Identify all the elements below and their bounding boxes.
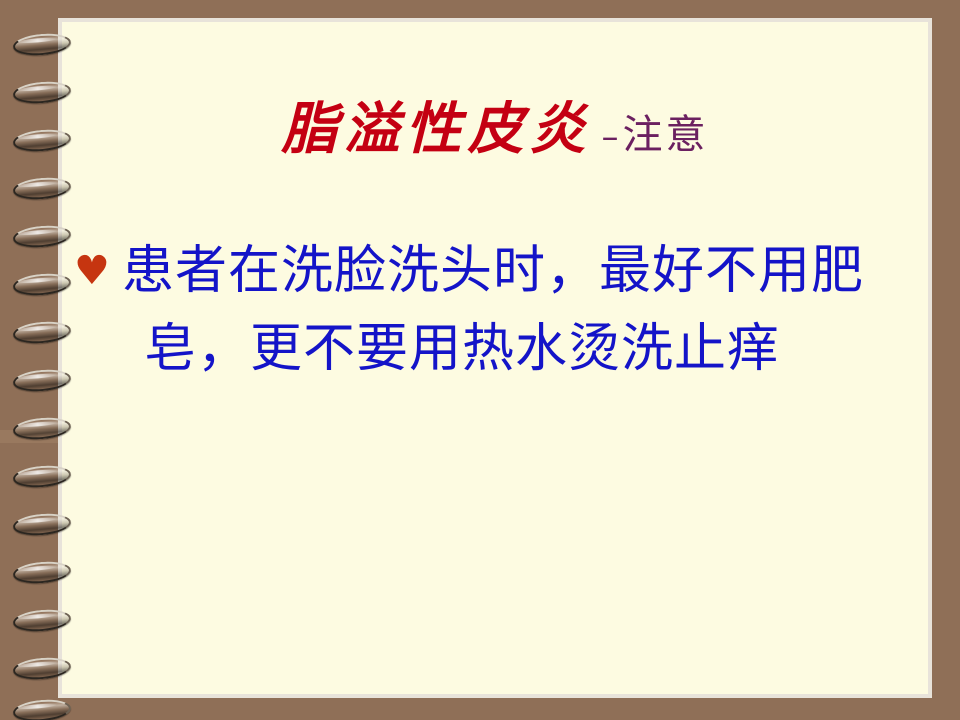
spine-highlight-band [0,430,62,443]
bullet-text-line: 患者在洗脸洗头时，最好不用肥 [122,232,928,310]
bullet-text-line: 皂，更不要用热水烫洗止痒 [122,310,928,388]
title-main-text: 脂溢性皮炎 [282,96,592,162]
title-separator: – [592,117,623,157]
slide-canvas: 脂溢性皮炎–注意 ♥ 患者在洗脸洗头时，最好不用肥 皂，更不要用热水烫洗止痒 [0,0,960,720]
heart-bullet-icon: ♥ [70,232,122,310]
slide-content: 脂溢性皮炎–注意 ♥ 患者在洗脸洗头时，最好不用肥 皂，更不要用热水烫洗止痒 [62,22,928,694]
bullet-block: ♥ 患者在洗脸洗头时，最好不用肥 皂，更不要用热水烫洗止痒 [70,232,928,388]
bullet-text: 患者在洗脸洗头时，最好不用肥 皂，更不要用热水烫洗止痒 [122,232,928,388]
spiral-ring [12,698,72,720]
title-subtitle-text: 注意 [623,112,709,158]
bullet-item: ♥ 患者在洗脸洗头时，最好不用肥 皂，更不要用热水烫洗止痒 [70,232,928,388]
slide-title: 脂溢性皮炎–注意 [62,84,928,165]
